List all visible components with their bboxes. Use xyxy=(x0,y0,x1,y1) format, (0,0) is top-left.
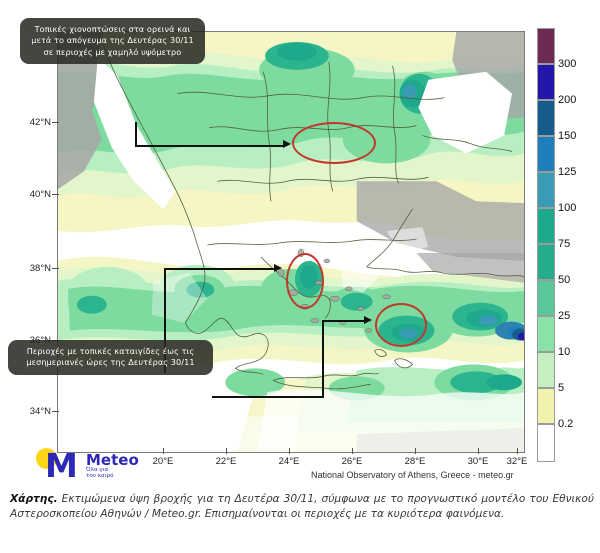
colorbar-label-100: 100 xyxy=(558,202,576,214)
colorbar-swatch-125-150 xyxy=(537,136,555,172)
ytick-mark xyxy=(52,268,59,269)
colorbar-label-5: 5 xyxy=(558,382,564,394)
highlight-ring-central xyxy=(286,253,324,309)
caption-lead: Χάρτης. xyxy=(10,493,58,505)
logo-tagline-line2: τον καιρό xyxy=(86,473,114,479)
xtick-mark xyxy=(478,448,479,454)
figure-caption: Χάρτης. Εκτιμώμενα ύψη βροχής για τη Δευ… xyxy=(10,492,594,523)
highlight-ring-north xyxy=(292,122,376,164)
colorbar-swatch-50-75 xyxy=(537,244,555,280)
meteo-logo: M Meteo Όλα για τον καιρό xyxy=(36,448,171,480)
leader-arrow-snow xyxy=(283,140,291,148)
colorbar-swatch-25-50 xyxy=(537,280,555,316)
ytick-mark xyxy=(52,194,59,195)
xtick-mark xyxy=(415,448,416,454)
precipitation-map xyxy=(57,31,525,453)
weather-map-figure: Total acc. precipitation (mm) BOLAM 6 km… xyxy=(0,0,600,553)
colorbar-swatch-100-125 xyxy=(537,172,555,208)
xtick-mark xyxy=(517,448,518,454)
colorbar-swatch-5-10 xyxy=(537,352,555,388)
ytick-label-34N: 34°N xyxy=(17,406,51,417)
leader-line-snow-horizontal xyxy=(135,145,283,147)
ytick-mark xyxy=(52,411,59,412)
xtick-label-32E: 32°E xyxy=(497,456,537,467)
leader-line-storm-horizontal-1 xyxy=(164,268,274,270)
colorbar-swatch-0.2-5 xyxy=(537,388,555,424)
xtick-label-26E: 26°E xyxy=(332,456,372,467)
xtick-label-22E: 22°E xyxy=(206,456,246,467)
logo-letter-m: M xyxy=(45,452,78,480)
annotation-callout-snow: Τοπικές χιονοπτώσεις στα ορεινά και μετά… xyxy=(20,18,205,64)
leader-line-storm-horizontal-3 xyxy=(322,320,364,322)
colorbar-label-300: 300 xyxy=(558,58,576,70)
colorbar-swatch-150-200 xyxy=(537,100,555,136)
annotation-callout-storms: Περιοχές με τοπικές καταιγίδες έως τις μ… xyxy=(8,340,213,375)
colorbar-swatch-below-0.2 xyxy=(537,424,555,462)
colorbar-swatch-200-300 xyxy=(537,64,555,100)
colorbar-swatch-10-25 xyxy=(537,316,555,352)
leader-arrow-storm-1 xyxy=(274,264,282,272)
attribution-text: National Observatory of Athens, Greece -… xyxy=(311,470,514,480)
colorbar-label-10: 10 xyxy=(558,346,570,358)
xtick-mark xyxy=(289,448,290,454)
colorbar-swatch-above-300 xyxy=(537,28,555,64)
colorbar xyxy=(537,28,555,462)
ytick-mark xyxy=(52,122,59,123)
leader-line-storm-horizontal-2 xyxy=(212,396,324,398)
colorbar-label-50: 50 xyxy=(558,274,570,286)
map-canvas xyxy=(58,32,524,452)
ytick-label-40N: 40°N xyxy=(17,189,51,200)
xtick-label-30E: 30°E xyxy=(458,456,498,467)
colorbar-label-125: 125 xyxy=(558,166,576,178)
leader-line-snow-vertical xyxy=(135,122,137,146)
xtick-label-28E: 28°E xyxy=(395,456,435,467)
xtick-mark xyxy=(226,448,227,454)
xtick-label-24E: 24°E xyxy=(269,456,309,467)
leader-line-storm-vertical-2 xyxy=(322,320,324,397)
colorbar-label-150: 150 xyxy=(558,130,576,142)
colorbar-label-75: 75 xyxy=(558,238,570,250)
colorbar-swatch-75-100 xyxy=(537,208,555,244)
colorbar-label-25: 25 xyxy=(558,310,570,322)
highlight-ring-southeast xyxy=(375,303,427,347)
caption-body: Εκτιμώμενα ύψη βροχής για τη Δευτέρα 30/… xyxy=(10,493,594,520)
ytick-label-38N: 38°N xyxy=(17,263,51,274)
ytick-label-42N: 42°N xyxy=(17,117,51,128)
leader-arrow-storm-2 xyxy=(364,316,372,324)
xtick-mark xyxy=(352,448,353,454)
colorbar-label-200: 200 xyxy=(558,94,576,106)
colorbar-label-0.2: 0.2 xyxy=(558,418,573,430)
